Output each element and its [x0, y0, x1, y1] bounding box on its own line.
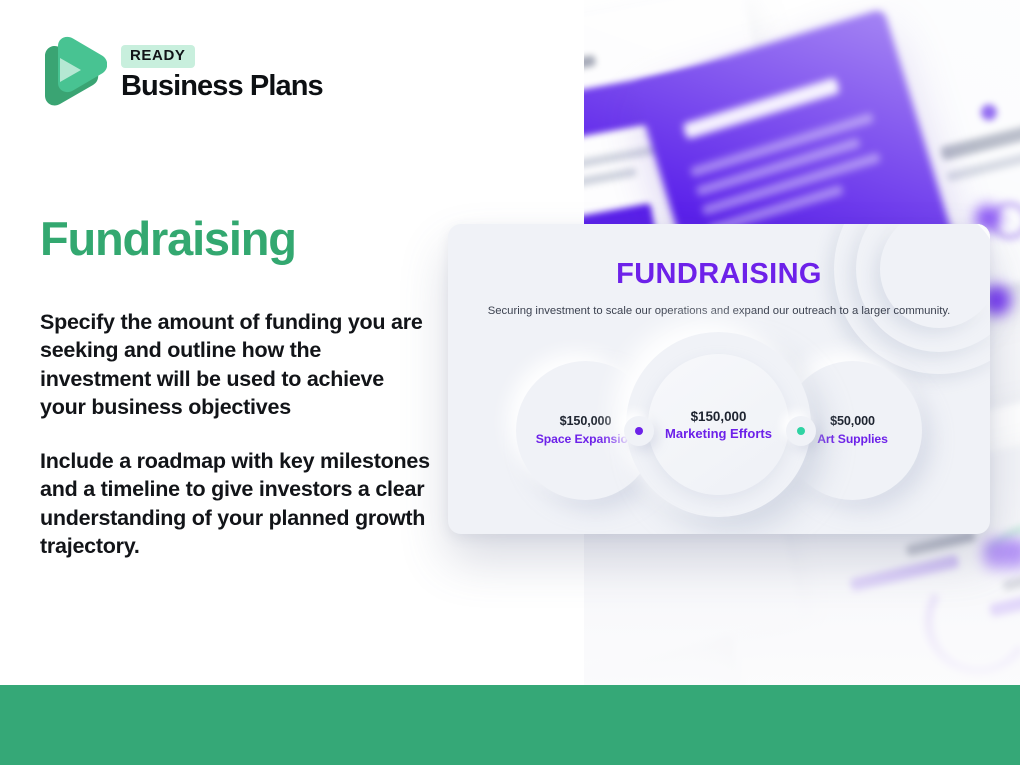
body-paragraph-1: Specify the amount of funding you are se… — [40, 308, 430, 422]
breakdown-label: Space Expansion — [536, 431, 635, 447]
breakdown-amount: $50,000 — [830, 414, 875, 430]
fundraising-breakdown-diagram: $150,000 Space Expansion $50,000 Art Sup… — [448, 342, 990, 522]
connector-dot-purple — [635, 427, 643, 435]
breakdown-amount: $150,000 — [560, 414, 612, 430]
card-subtitle: Securing investment to scale our operati… — [448, 304, 990, 319]
breakdown-circle-center-face: $150,000 Marketing Efforts — [648, 354, 789, 495]
footer-green-bar — [0, 685, 1020, 765]
bg-purple-blob-3 — [983, 540, 1020, 570]
fundraising-card: FUNDRAISING Securing investment to scale… — [448, 224, 990, 534]
breakdown-label: Marketing Efforts — [665, 426, 772, 441]
card-title: FUNDRAISING — [448, 258, 990, 291]
brand-name: Business Plans — [121, 71, 323, 101]
play-triangle-logo-icon — [41, 36, 107, 110]
page-title: Fundraising — [40, 214, 296, 263]
ready-badge: READY — [121, 45, 195, 68]
connector-node-left — [624, 416, 654, 446]
brand-logo[interactable]: READY Business Plans — [41, 36, 323, 110]
brand-logo-text: READY Business Plans — [121, 45, 323, 101]
breakdown-amount: $150,000 — [691, 409, 747, 424]
slide-canvas: READY Business Plans Fundraising Specify… — [0, 0, 1020, 765]
body-paragraph-2: Include a roadmap with key milestones an… — [40, 447, 430, 561]
breakdown-label: Art Supplies — [817, 431, 888, 447]
connector-node-right — [786, 416, 816, 446]
connector-dot-green — [797, 427, 805, 435]
